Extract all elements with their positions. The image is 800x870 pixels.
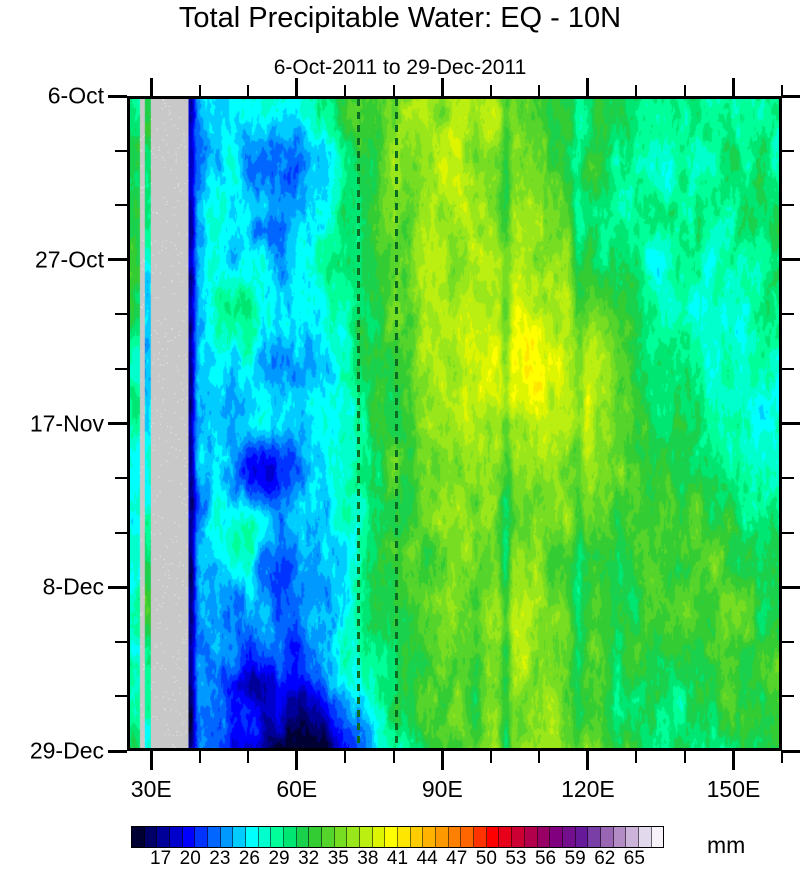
colorbar-swatch-8 bbox=[233, 827, 246, 847]
colorbar-swatch-6 bbox=[208, 827, 221, 847]
y-axis-label-1: 27-Oct bbox=[35, 246, 104, 273]
x-tick-top-100 bbox=[490, 85, 492, 96]
x-tick-top-110 bbox=[538, 85, 540, 96]
x-tick-major-90 bbox=[441, 751, 444, 770]
colorbar-swatch-41 bbox=[652, 827, 664, 847]
colorbar-swatch-10 bbox=[259, 827, 272, 847]
colorbar-swatch-22 bbox=[411, 827, 424, 847]
x-axis-label-4: 150E bbox=[707, 776, 761, 803]
colorbar-swatch-30 bbox=[512, 827, 525, 847]
y-axis-label-4: 29-Dec bbox=[30, 738, 104, 765]
x-tick-top-40 bbox=[199, 85, 201, 96]
y-tick-right-70 bbox=[782, 641, 794, 643]
colorbar bbox=[131, 826, 664, 848]
x-tick-minor-40 bbox=[199, 751, 201, 763]
colorbar-swatch-2 bbox=[157, 827, 170, 847]
chart-subtitle: 6-Oct-2011 to 29-Dec-2011 bbox=[0, 56, 800, 80]
y-tick-minor-35 bbox=[115, 368, 127, 370]
colorbar-swatch-14 bbox=[309, 827, 322, 847]
x-tick-major-150 bbox=[732, 751, 735, 770]
y-tick-right-14 bbox=[782, 204, 794, 206]
x-tick-top-130 bbox=[635, 85, 637, 96]
y-tick-right-77 bbox=[782, 695, 794, 697]
colorbar-swatch-39 bbox=[626, 827, 639, 847]
y-tick-minor-77 bbox=[115, 695, 127, 697]
y-tick-major-0 bbox=[108, 95, 127, 98]
x-tick-minor-100 bbox=[490, 751, 492, 763]
x-tick-minor-50 bbox=[247, 751, 249, 763]
colorbar-swatch-11 bbox=[271, 827, 284, 847]
x-tick-top-60 bbox=[295, 78, 298, 96]
y-tick-minor-7 bbox=[115, 150, 127, 152]
colorbar-swatch-4 bbox=[183, 827, 196, 847]
x-tick-top-80 bbox=[393, 85, 395, 96]
x-tick-minor-110 bbox=[538, 751, 540, 763]
precipitable-water-heatmap bbox=[130, 99, 779, 748]
y-tick-minor-14 bbox=[115, 204, 127, 206]
x-tick-top-50 bbox=[247, 85, 249, 96]
x-tick-minor-140 bbox=[684, 751, 686, 763]
y-tick-major-84 bbox=[108, 750, 127, 753]
y-axis-label-3: 8-Dec bbox=[43, 574, 104, 601]
colorbar-swatch-21 bbox=[398, 827, 411, 847]
colorbar-swatch-35 bbox=[576, 827, 589, 847]
colorbar-swatches bbox=[131, 826, 664, 848]
colorbar-swatch-37 bbox=[601, 827, 614, 847]
colorbar-swatch-33 bbox=[550, 827, 563, 847]
colorbar-swatch-25 bbox=[449, 827, 462, 847]
x-tick-top-90 bbox=[441, 78, 444, 96]
y-tick-right-84 bbox=[782, 750, 800, 753]
x-tick-top-120 bbox=[586, 78, 589, 96]
y-axis-label-2: 17-Nov bbox=[30, 410, 104, 437]
colorbar-swatch-40 bbox=[639, 827, 652, 847]
colorbar-swatch-20 bbox=[385, 827, 398, 847]
y-tick-major-63 bbox=[108, 586, 127, 589]
y-tick-right-42 bbox=[782, 422, 800, 425]
colorbar-swatch-19 bbox=[373, 827, 386, 847]
x-tick-top-160 bbox=[781, 85, 783, 96]
y-tick-minor-28 bbox=[115, 313, 127, 315]
y-tick-minor-56 bbox=[115, 532, 127, 534]
x-tick-top-30 bbox=[150, 78, 153, 96]
x-axis-label-2: 90E bbox=[422, 776, 463, 803]
colorbar-swatch-32 bbox=[538, 827, 551, 847]
y-tick-right-28 bbox=[782, 313, 794, 315]
colorbar-swatch-17 bbox=[347, 827, 360, 847]
colorbar-swatch-31 bbox=[525, 827, 538, 847]
x-tick-minor-130 bbox=[635, 751, 637, 763]
colorbar-swatch-1 bbox=[145, 827, 158, 847]
x-tick-major-30 bbox=[150, 751, 153, 770]
y-tick-right-7 bbox=[782, 150, 794, 152]
y-tick-major-42 bbox=[108, 422, 127, 425]
colorbar-swatch-13 bbox=[297, 827, 310, 847]
y-tick-right-21 bbox=[782, 258, 800, 261]
colorbar-units-label: mm bbox=[707, 832, 745, 859]
colorbar-swatch-7 bbox=[221, 827, 234, 847]
hovmoller-figure: Total Precipitable Water: EQ - 10N 6-Oct… bbox=[0, 0, 800, 867]
y-tick-right-35 bbox=[782, 368, 794, 370]
colorbar-swatch-27 bbox=[474, 827, 487, 847]
y-tick-right-0 bbox=[782, 95, 800, 98]
x-tick-top-150 bbox=[732, 78, 735, 96]
colorbar-swatch-18 bbox=[360, 827, 373, 847]
y-tick-minor-49 bbox=[115, 477, 127, 479]
colorbar-swatch-9 bbox=[246, 827, 259, 847]
x-axis-label-3: 120E bbox=[561, 776, 615, 803]
colorbar-swatch-5 bbox=[195, 827, 208, 847]
colorbar-swatch-34 bbox=[563, 827, 576, 847]
colorbar-swatch-16 bbox=[335, 827, 348, 847]
x-tick-minor-70 bbox=[344, 751, 346, 763]
y-tick-major-21 bbox=[108, 258, 127, 261]
x-tick-minor-80 bbox=[393, 751, 395, 763]
colorbar-swatch-12 bbox=[284, 827, 297, 847]
colorbar-swatch-23 bbox=[423, 827, 436, 847]
x-tick-minor-160 bbox=[781, 751, 783, 763]
x-tick-major-60 bbox=[295, 751, 298, 770]
y-axis-label-0: 6-Oct bbox=[48, 83, 104, 110]
colorbar-swatch-36 bbox=[588, 827, 601, 847]
y-tick-right-63 bbox=[782, 586, 800, 589]
colorbar-swatch-3 bbox=[170, 827, 183, 847]
x-axis-label-1: 60E bbox=[276, 776, 317, 803]
colorbar-swatch-0 bbox=[132, 827, 145, 847]
y-tick-right-49 bbox=[782, 477, 794, 479]
colorbar-swatch-28 bbox=[487, 827, 500, 847]
y-tick-right-56 bbox=[782, 532, 794, 534]
x-tick-top-70 bbox=[344, 85, 346, 96]
page-title: Total Precipitable Water: EQ - 10N bbox=[0, 2, 800, 35]
colorbar-swatch-26 bbox=[461, 827, 474, 847]
colorbar-swatch-29 bbox=[499, 827, 512, 847]
colorbar-swatch-24 bbox=[436, 827, 449, 847]
plot-area bbox=[127, 96, 782, 751]
colorbar-swatch-15 bbox=[322, 827, 335, 847]
colorbar-swatch-38 bbox=[614, 827, 627, 847]
x-tick-top-140 bbox=[684, 85, 686, 96]
x-axis-label-0: 30E bbox=[131, 776, 172, 803]
y-tick-minor-70 bbox=[115, 641, 127, 643]
x-tick-major-120 bbox=[586, 751, 589, 770]
